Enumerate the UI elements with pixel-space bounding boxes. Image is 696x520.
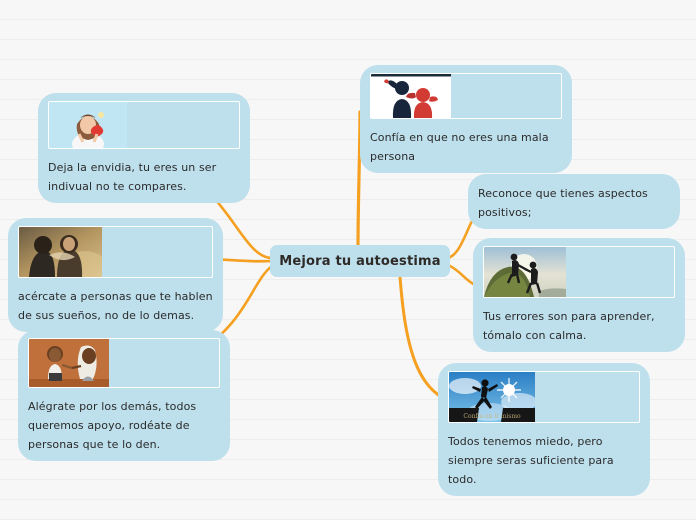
- branch-node-alegrate[interactable]: Alégrate por los demás, todos queremos a…: [18, 330, 230, 461]
- branch-label-envidia: Deja la envidia, tu eres un ser indivual…: [48, 161, 216, 193]
- svg-text:Confía en ti mismo: Confía en ti mismo: [463, 413, 521, 420]
- mindmap-canvas: Mejora tu autoestima Deja la envidia, tu…: [0, 0, 696, 520]
- branch-node-reconoce[interactable]: Reconoce que tienes aspectos positivos;: [468, 174, 680, 229]
- two-figures-silhouette-icon: [370, 73, 562, 119]
- branch-node-errores[interactable]: Tus errores son para aprender, tómalo co…: [473, 238, 685, 352]
- branch-node-envidia[interactable]: Deja la envidia, tu eres un ser indivual…: [38, 93, 250, 203]
- branch-node-acercate[interactable]: acércate a personas que te hablen de sus…: [8, 218, 223, 332]
- branch-node-miedo[interactable]: Confía en ti mismo Todos tenemos miedo, …: [438, 363, 650, 496]
- branch-node-confia[interactable]: Confía en que no eres una mala persona: [360, 65, 572, 173]
- branch-label-errores: Tus errores son para aprender, tómalo co…: [483, 310, 655, 342]
- two-people-hugging-photo: [18, 226, 213, 278]
- branch-label-miedo: Todos tenemos miedo, pero siempre seras …: [448, 435, 614, 486]
- branch-label-confia: Confía en que no eres una mala persona: [370, 131, 549, 163]
- two-cartoon-people-talking: [28, 338, 220, 388]
- person-jumping-cliff-photo: Confía en ti mismo: [448, 371, 640, 423]
- central-topic-label: Mejora tu autoestima: [279, 254, 441, 269]
- hikers-helping-hand-photo: [483, 246, 675, 298]
- branch-label-reconoce: Reconoce que tienes aspectos positivos;: [478, 187, 648, 219]
- girl-with-heart-illustration: [48, 101, 240, 149]
- branch-label-alegrate: Alégrate por los demás, todos queremos a…: [28, 400, 196, 451]
- central-topic-node[interactable]: Mejora tu autoestima: [270, 245, 450, 277]
- branch-label-acercate: acércate a personas que te hablen de sus…: [18, 290, 213, 322]
